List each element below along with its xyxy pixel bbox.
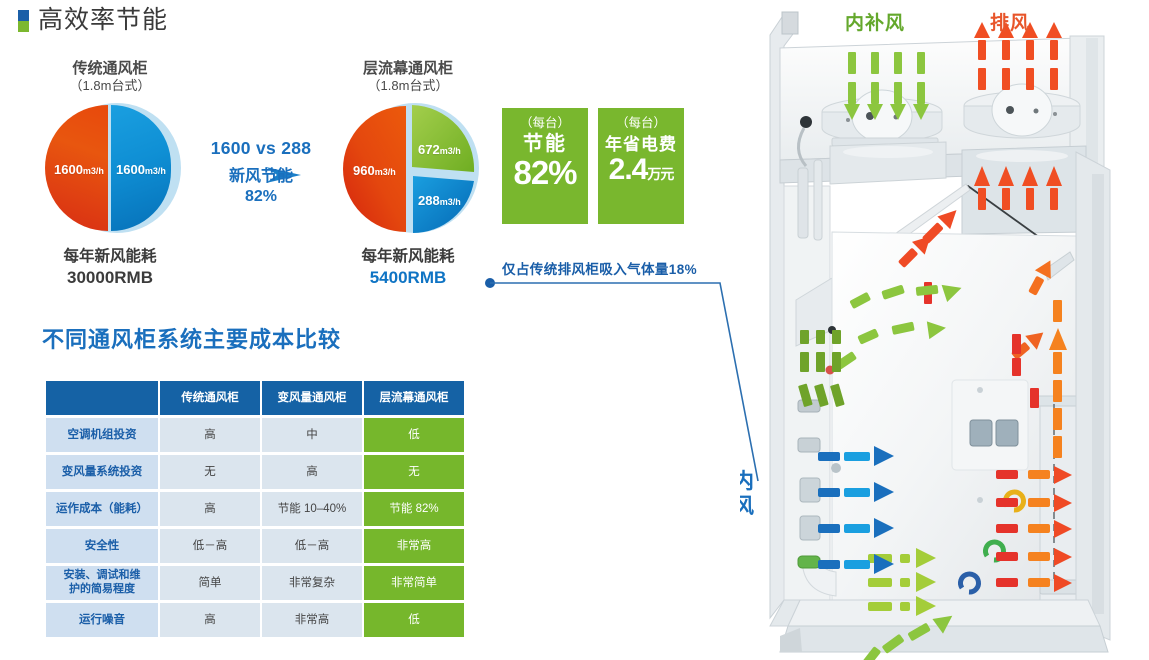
cell-laminar: 低 [364, 603, 464, 637]
row-header: 安装、调试和维 护的简易程度 [46, 566, 158, 600]
row-header: 空调机组投资 [46, 418, 158, 452]
badge-value: 82% [513, 156, 576, 189]
table-row: 空调机组投资 高 中 低 [46, 418, 464, 452]
row-header: 运行噪音 [46, 603, 158, 637]
laminar-annual-cost: 每年新风能耗 5400RMB [318, 247, 498, 289]
badge-title: 年省电费 [605, 136, 677, 154]
traditional-hood-sub: （1.8m台式） [20, 78, 200, 94]
fume-hood-illustration: 内补风 排风 室内 新风 [740, 0, 1149, 660]
cell-traditional: 低－高 [160, 529, 260, 563]
annual-cost-label: 每年新风能耗 [20, 247, 200, 267]
table-section-title: 不同通风柜系统主要成本比较 [42, 322, 341, 354]
cell-traditional: 高 [160, 603, 260, 637]
cell-vav: 低－高 [262, 529, 362, 563]
savings-badges: （每台） 节能 82% （每台） 年省电费 2.4万元 [502, 108, 684, 224]
callout-leader-line [484, 275, 774, 525]
cell-laminar: 无 [364, 455, 464, 489]
comparison-callout: 1600 vs 288 新风节能 82% [197, 138, 325, 207]
traditional-hood-chart: 传统通风柜 （1.8m台式） 1600m3/h 1600m3/h 每年新风能耗 … [20, 60, 200, 289]
laminar-hood-chart: 层流幕通风柜 （1.8m台式） [318, 60, 498, 289]
cell-traditional: 高 [160, 418, 260, 452]
badge-value: 2.4万元 [609, 155, 674, 185]
cell-vav: 节能 10–40% [262, 492, 362, 526]
pie-label-fresh: 288m3/h [418, 193, 461, 208]
cell-laminar: 非常简单 [364, 566, 464, 600]
annual-cost-value: 30000RMB [20, 267, 200, 289]
pie-label-exhaust: 1600m3/h [54, 162, 104, 177]
row-header: 变风量系统投资 [46, 455, 158, 489]
compare-savings-value: 82% [245, 188, 277, 205]
pie-label-internal: 672m3/h [418, 142, 461, 157]
badge-title: 节能 [523, 134, 567, 155]
table-col-traditional: 传统通风柜 [160, 381, 260, 415]
cell-laminar: 低 [364, 418, 464, 452]
exhaust-air-label: 排风 [990, 8, 1030, 35]
badge-unit-label: （每台） [616, 117, 666, 131]
cell-vav: 非常复杂 [262, 566, 362, 600]
table-row: 运作成本（能耗） 高 节能 10–40% 节能 82% [46, 492, 464, 526]
cell-laminar: 节能 82% [364, 492, 464, 526]
badge-unit-label: （每台） [520, 117, 570, 131]
fume-hood-diagram [740, 0, 1149, 660]
laminar-hood-caption: 层流幕通风柜 （1.8m台式） [318, 60, 498, 94]
traditional-hood-name: 传统通风柜 [20, 60, 200, 78]
curtain-arrows [798, 330, 845, 407]
table-row: 安装、调试和维 护的简易程度 简单 非常复杂 非常简单 [46, 566, 464, 600]
laminar-hood-sub: （1.8m台式） [318, 78, 498, 94]
pie-label-exhaust: 960m3/h [353, 163, 396, 178]
annual-cost-label: 每年新风能耗 [318, 247, 498, 267]
page-title: 高效率节能 [38, 8, 168, 33]
infographic-page: 高效率节能 传统通风柜 （1.8m台式） 1600m3/h 1600m3/h 每… [0, 0, 1149, 660]
laminar-pie: 960m3/h 672m3/h 288m3/h [343, 103, 473, 233]
cell-vav: 高 [262, 455, 362, 489]
cost-comparison-table: 传统通风柜 变风量通风柜 层流幕通风柜 空调机组投资 高 中 低 变风量系统投资… [44, 378, 466, 640]
table-col-laminar: 层流幕通风柜 [364, 381, 464, 415]
table-row: 安全性 低－高 低－高 非常高 [46, 529, 464, 563]
table-col-blank [46, 381, 158, 415]
traditional-annual-cost: 每年新风能耗 30000RMB [20, 247, 200, 289]
cell-vav: 非常高 [262, 603, 362, 637]
laminar-hood-name: 层流幕通风柜 [318, 60, 498, 78]
compare-ratio: 1600 vs 288 [197, 138, 325, 159]
brand-mark-icon [18, 10, 29, 32]
table-row: 变风量系统投资 无 高 无 [46, 455, 464, 489]
cost-saving-badge: （每台） 年省电费 2.4万元 [598, 108, 684, 224]
indoor-fresh-air-label: 室内 新风 [740, 470, 754, 520]
traditional-hood-caption: 传统通风柜 （1.8m台式） [20, 60, 200, 94]
traditional-pie: 1600m3/h 1600m3/h [45, 103, 175, 233]
cell-laminar: 非常高 [364, 529, 464, 563]
table-col-vav: 变风量通风柜 [262, 381, 362, 415]
supply-air-label: 内补风 [845, 8, 905, 35]
row-header: 安全性 [46, 529, 158, 563]
table-header-row: 传统通风柜 变风量通风柜 层流幕通风柜 [46, 381, 464, 415]
page-header: 高效率节能 [18, 8, 168, 33]
row-header: 运作成本（能耗） [46, 492, 158, 526]
annual-cost-value: 5400RMB [318, 267, 498, 289]
compare-savings-label: 新风节能 [229, 168, 293, 185]
cell-traditional: 高 [160, 492, 260, 526]
cell-vav: 中 [262, 418, 362, 452]
energy-saving-badge: （每台） 节能 82% [502, 108, 588, 224]
cell-traditional: 无 [160, 455, 260, 489]
cell-traditional: 简单 [160, 566, 260, 600]
table-row: 运行噪音 高 非常高 低 [46, 603, 464, 637]
pie-label-makeup: 1600m3/h [116, 162, 166, 177]
